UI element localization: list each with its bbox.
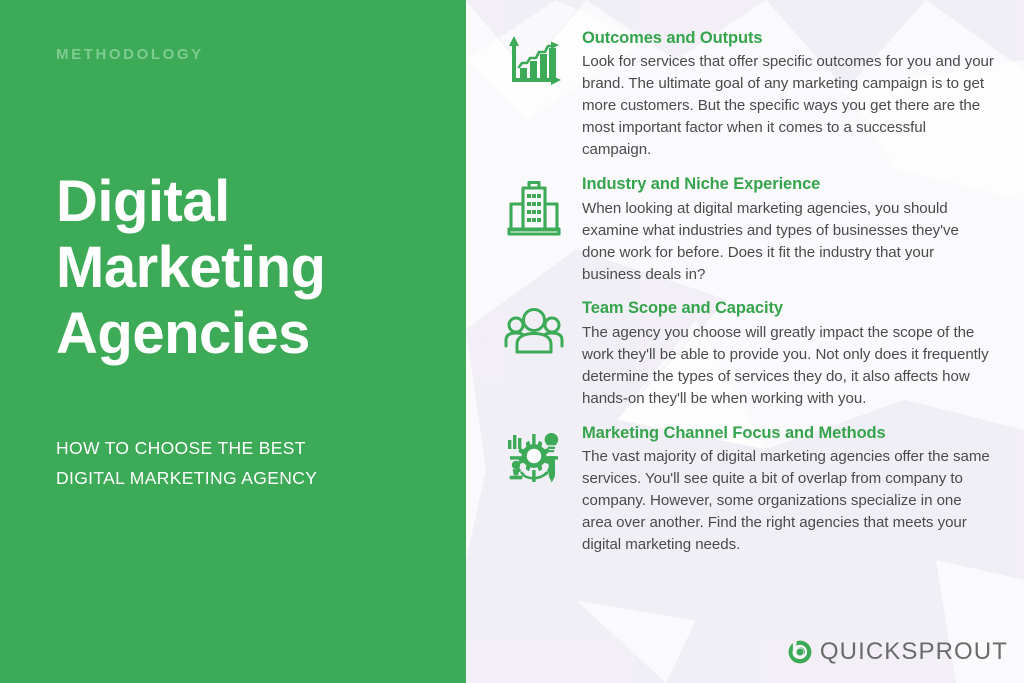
- title-panel: METHODOLOGY Digital Marketing Agencies H…: [0, 0, 466, 683]
- section-item: Industry and Niche Experience When looki…: [486, 174, 1000, 285]
- section-content: Marketing Channel Focus and Methods The …: [582, 423, 1000, 556]
- brand-name: QUICKSPROUT: [820, 640, 1008, 664]
- section-icon-slot: [486, 298, 582, 364]
- brand-footer: QUICKSPROUT: [787, 639, 1008, 665]
- section-text: Look for services that offer specific ou…: [582, 51, 994, 161]
- marketing-strategy-gear-icon: [503, 427, 565, 489]
- section-item: Outcomes and Outputs Look for services t…: [486, 28, 1000, 161]
- bar-chart-growth-icon: [503, 32, 565, 94]
- section-content: Industry and Niche Experience When looki…: [582, 174, 1000, 285]
- section-item: Team Scope and Capacity The agency you c…: [486, 298, 1000, 409]
- eyebrow-label: METHODOLOGY: [56, 44, 414, 63]
- page-subtitle: HOW TO CHOOSE THE BEST DIGITAL MARKETING…: [56, 433, 356, 493]
- page-title: Digital Marketing Agencies: [56, 169, 386, 367]
- title-block: Digital Marketing Agencies HOW TO CHOOSE…: [56, 169, 414, 494]
- section-icon-slot: [486, 28, 582, 94]
- section-title: Team Scope and Capacity: [582, 298, 994, 319]
- quicksprout-logo-icon: [787, 639, 813, 665]
- section-content: Outcomes and Outputs Look for services t…: [582, 28, 1000, 161]
- section-content: Team Scope and Capacity The agency you c…: [582, 298, 1000, 409]
- content-panel: Outcomes and Outputs Look for services t…: [466, 0, 1024, 683]
- section-item: Marketing Channel Focus and Methods The …: [486, 423, 1000, 556]
- section-title: Outcomes and Outputs: [582, 28, 994, 49]
- section-text: The vast majority of digital marketing a…: [582, 446, 994, 556]
- section-text: When looking at digital marketing agenci…: [582, 198, 994, 286]
- office-building-icon: [503, 178, 565, 240]
- section-title: Marketing Channel Focus and Methods: [582, 423, 994, 444]
- section-icon-slot: [486, 423, 582, 489]
- sections-list: Outcomes and Outputs Look for services t…: [466, 0, 1024, 556]
- infographic-root: METHODOLOGY Digital Marketing Agencies H…: [0, 0, 1024, 683]
- section-icon-slot: [486, 174, 582, 240]
- section-title: Industry and Niche Experience: [582, 174, 994, 195]
- people-group-icon: [503, 302, 565, 364]
- section-text: The agency you choose will greatly impac…: [582, 322, 994, 410]
